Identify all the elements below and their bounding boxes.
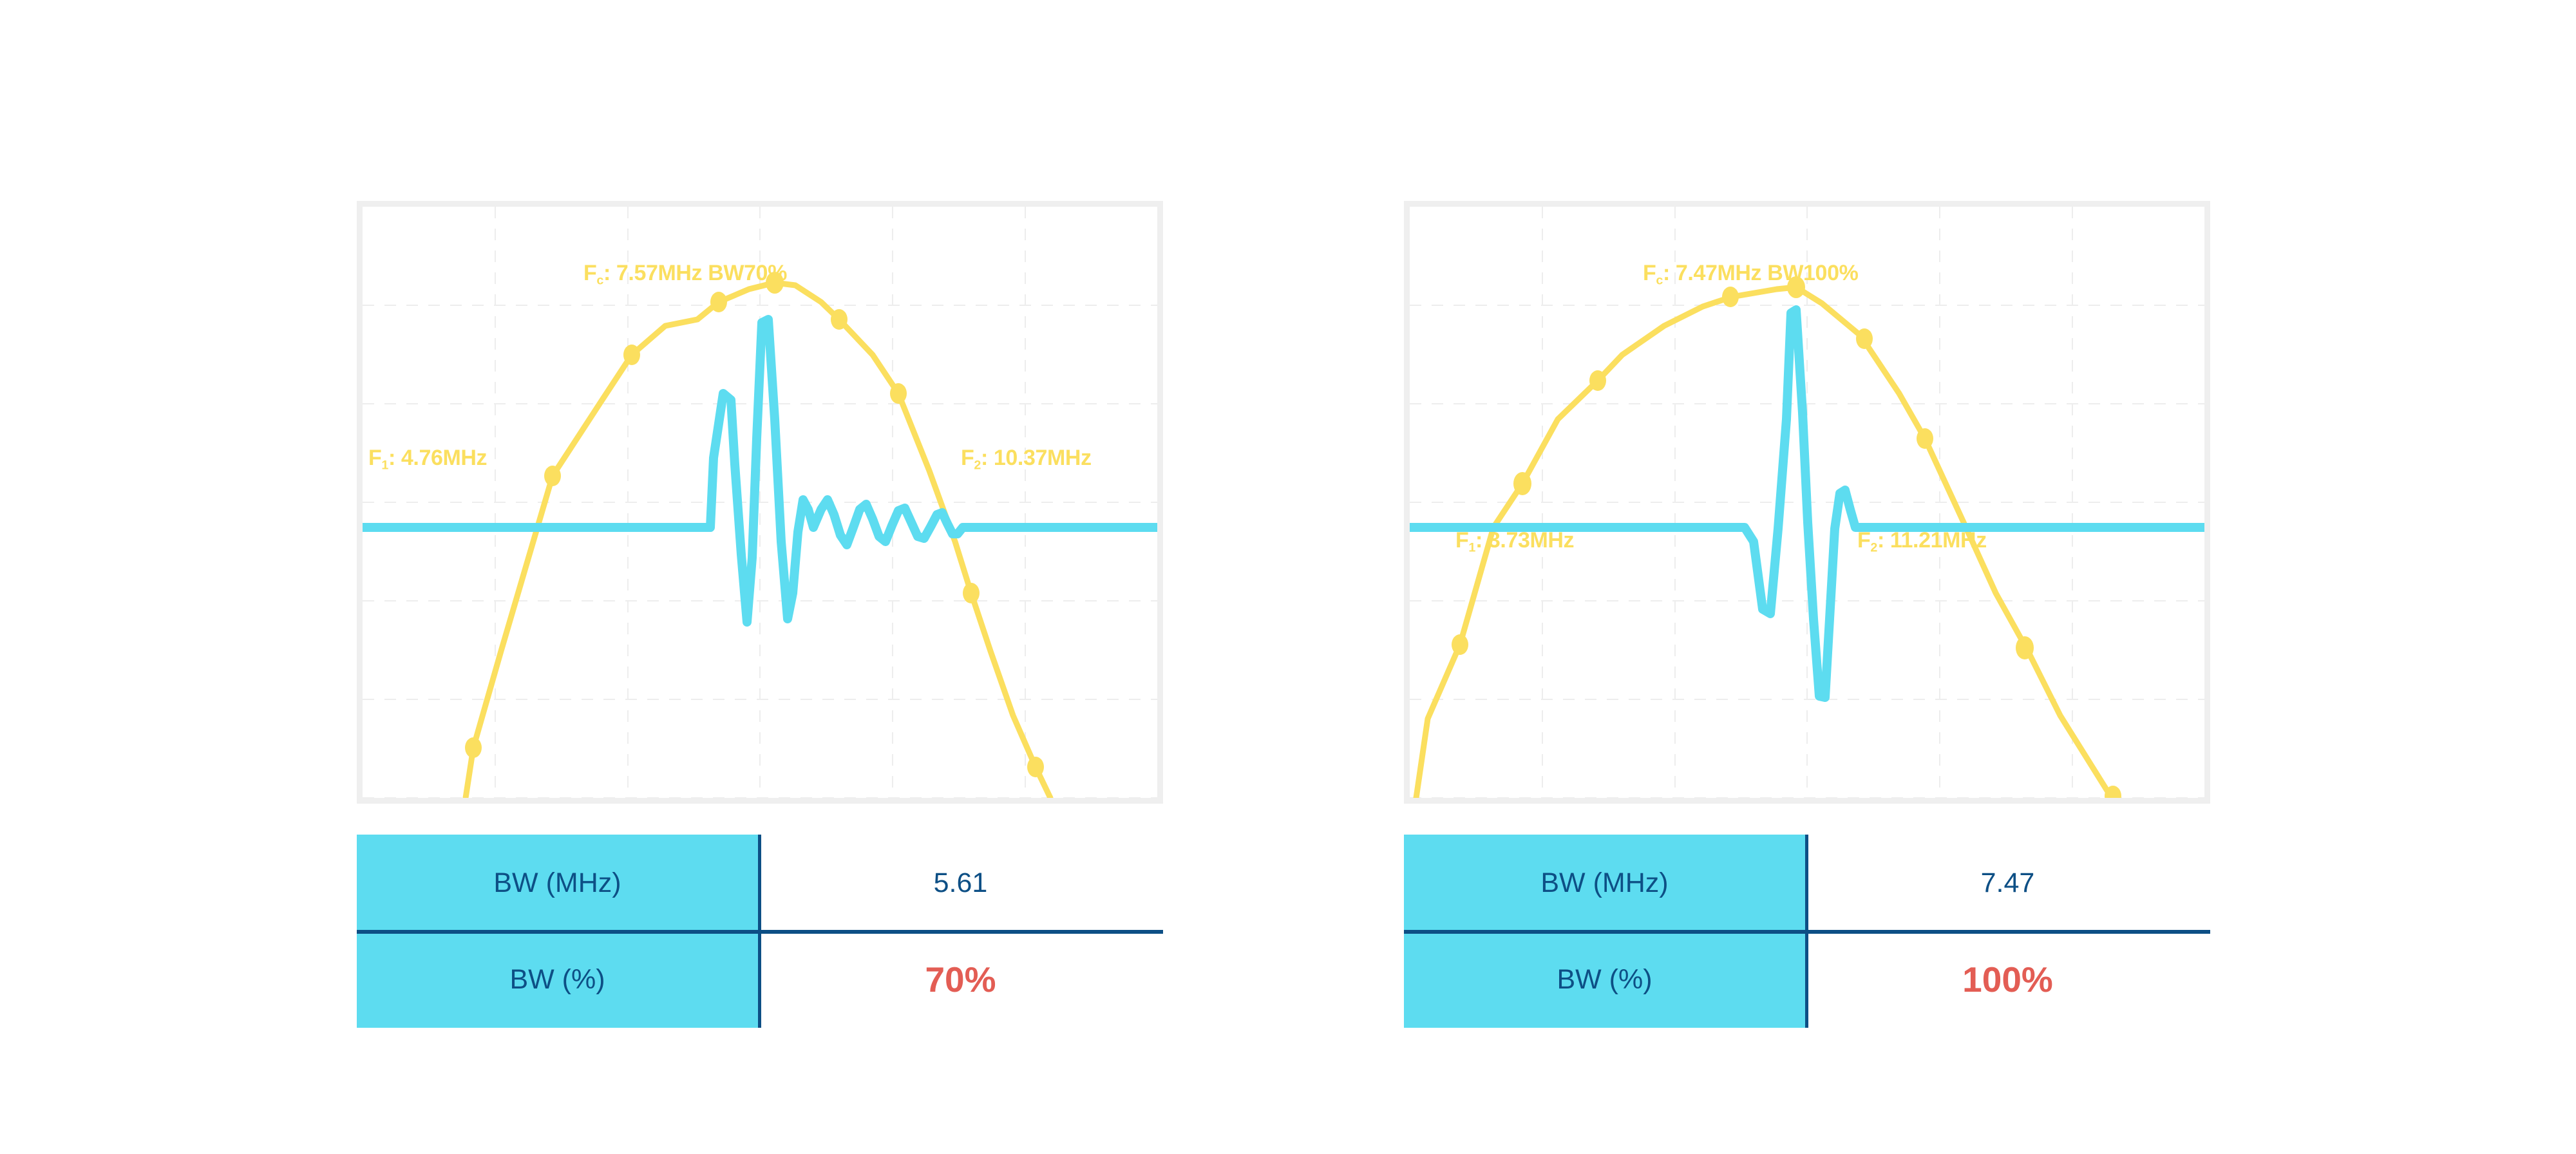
annotation-f1-sub-100: 1	[1468, 540, 1475, 554]
table-key-bw-mhz-100: BW (MHz)	[1404, 835, 1805, 931]
bandwidth-table-70: BW (MHz) 5.61 BW (%) 70%	[357, 835, 1163, 1028]
annotation-f1-prefix-70: F	[368, 446, 381, 470]
bandwidth-panel-100: Fc: 7.47MHz BW100% F1: 3.73MHz F2: 11.21…	[1047, 0, 2168, 1154]
annotation-f1-prefix-100: F	[1455, 528, 1468, 553]
annotation-center-text-70: : 7.57MHz BW70%	[603, 261, 787, 285]
table-key-bw-percent-70: BW (%)	[357, 931, 758, 1028]
annotation-center-text-100: : 7.47MHz BW100%	[1663, 261, 1858, 285]
annotation-f2-sub-70: 2	[974, 458, 981, 472]
table-mid-rule-70	[357, 930, 1163, 934]
annotation-center-prefix-70: F	[583, 261, 596, 285]
spectrum-plot-frame-70	[357, 201, 1163, 804]
annotation-center-sub-100: c	[1656, 273, 1663, 287]
annotation-f2-sub-100: 2	[1870, 540, 1877, 554]
annotation-f1-100: F1: 3.73MHz	[1455, 529, 1574, 554]
table-value-bw-mhz-100: 7.47	[1805, 835, 2210, 931]
annotation-f1-sub-70: 1	[381, 458, 388, 472]
spectrum-chart-70	[363, 207, 1157, 798]
annotation-center-prefix-100: F	[1643, 261, 1656, 285]
annotation-center-frequency-70: Fc: 7.57MHz BW70%	[583, 262, 787, 287]
spectrum-chart-100	[1410, 207, 2204, 798]
spectrum-plot-area-100	[1410, 207, 2204, 798]
spectrum-plot-frame-100	[1404, 201, 2210, 804]
table-mid-rule-100	[1404, 930, 2210, 934]
annotation-center-sub-70: c	[596, 273, 603, 287]
spectrum-plot-area-70	[363, 207, 1157, 798]
table-key-bw-mhz-70: BW (MHz)	[357, 835, 758, 931]
annotation-f1-text-70: : 4.76MHz	[388, 446, 487, 470]
bandwidth-panel-70: Fc: 7.57MHz BW70% F1: 4.76MHz F2: 10.37M…	[0, 0, 1121, 1154]
annotation-center-frequency-100: Fc: 7.47MHz BW100%	[1643, 262, 1858, 287]
annotation-f2-prefix-70: F	[961, 446, 974, 470]
annotation-f2-text-100: : 11.21MHz	[1877, 528, 1987, 553]
table-key-bw-percent-100: BW (%)	[1404, 931, 1805, 1028]
table-value-bw-percent-100: 100%	[1805, 931, 2210, 1028]
bandwidth-table-100: BW (MHz) 7.47 BW (%) 100%	[1404, 835, 2210, 1028]
annotation-f1-text-100: : 3.73MHz	[1475, 528, 1574, 553]
annotation-f2-100: F2: 11.21MHz	[1857, 529, 1987, 554]
annotation-f2-prefix-100: F	[1857, 528, 1870, 553]
annotation-f1-70: F1: 4.76MHz	[368, 447, 487, 472]
